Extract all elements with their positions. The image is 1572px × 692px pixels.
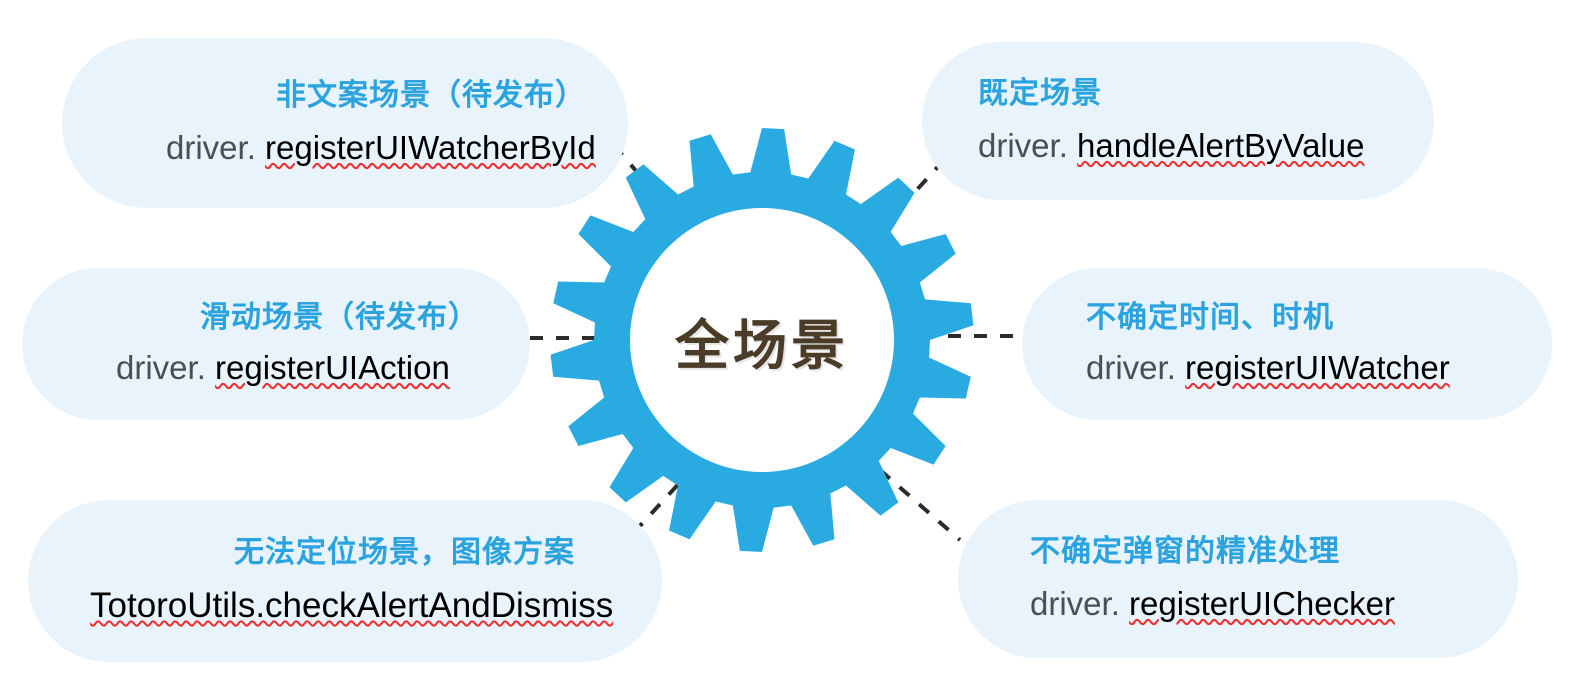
- card-title: 滑动场景（待发布）: [200, 301, 496, 336]
- code-prefix: driver.: [1030, 585, 1129, 622]
- card-predefined-scene[interactable]: 既定场景 driver. handleAlertByValue: [922, 42, 1434, 200]
- code-api: TotoroUtils.checkAlertAndDismiss: [90, 586, 613, 626]
- card-title: 无法定位场景，图像方案: [234, 536, 628, 571]
- card-code: driver. registerUIAction: [116, 349, 496, 387]
- diagram-canvas: 全场景 非文案场景（待发布） driver. registerUIWatcher…: [0, 0, 1572, 692]
- card-uncertain-dialog[interactable]: 不确定弹窗的精准处理 driver. registerUIChecker: [958, 500, 1518, 658]
- card-unlocatable-scene[interactable]: 无法定位场景，图像方案 TotoroUtils.checkAlertAndDis…: [28, 500, 662, 662]
- card-code: driver. registerUIWatcherById: [166, 129, 594, 167]
- code-api: registerUIWatcherById: [265, 129, 596, 167]
- card-code: TotoroUtils.checkAlertAndDismiss: [90, 586, 628, 626]
- card-title: 既定场景: [978, 77, 1392, 112]
- card-title: 非文案场景（待发布）: [276, 79, 594, 114]
- code-prefix: driver.: [166, 129, 265, 166]
- code-api: handleAlertByValue: [1077, 127, 1364, 165]
- code-prefix: driver.: [978, 127, 1077, 164]
- card-code: driver. registerUIChecker: [1030, 585, 1476, 623]
- card-code: driver. registerUIWatcher: [1086, 349, 1510, 387]
- card-code: driver. handleAlertByValue: [978, 127, 1392, 165]
- code-prefix: driver.: [1086, 349, 1185, 386]
- code-prefix: driver.: [116, 349, 215, 386]
- code-api: registerUIAction: [215, 349, 450, 387]
- code-api: registerUIWatcher: [1185, 349, 1450, 387]
- code-api: registerUIChecker: [1129, 585, 1395, 623]
- card-title: 不确定弹窗的精准处理: [1030, 535, 1476, 570]
- card-scroll-scene[interactable]: 滑动场景（待发布） driver. registerUIAction: [22, 268, 530, 420]
- card-non-copy-scene[interactable]: 非文案场景（待发布） driver. registerUIWatcherById: [62, 38, 628, 208]
- gear-icon: [547, 125, 977, 555]
- card-title: 不确定时间、时机: [1086, 301, 1510, 336]
- card-uncertain-timing[interactable]: 不确定时间、时机 driver. registerUIWatcher: [1022, 268, 1552, 420]
